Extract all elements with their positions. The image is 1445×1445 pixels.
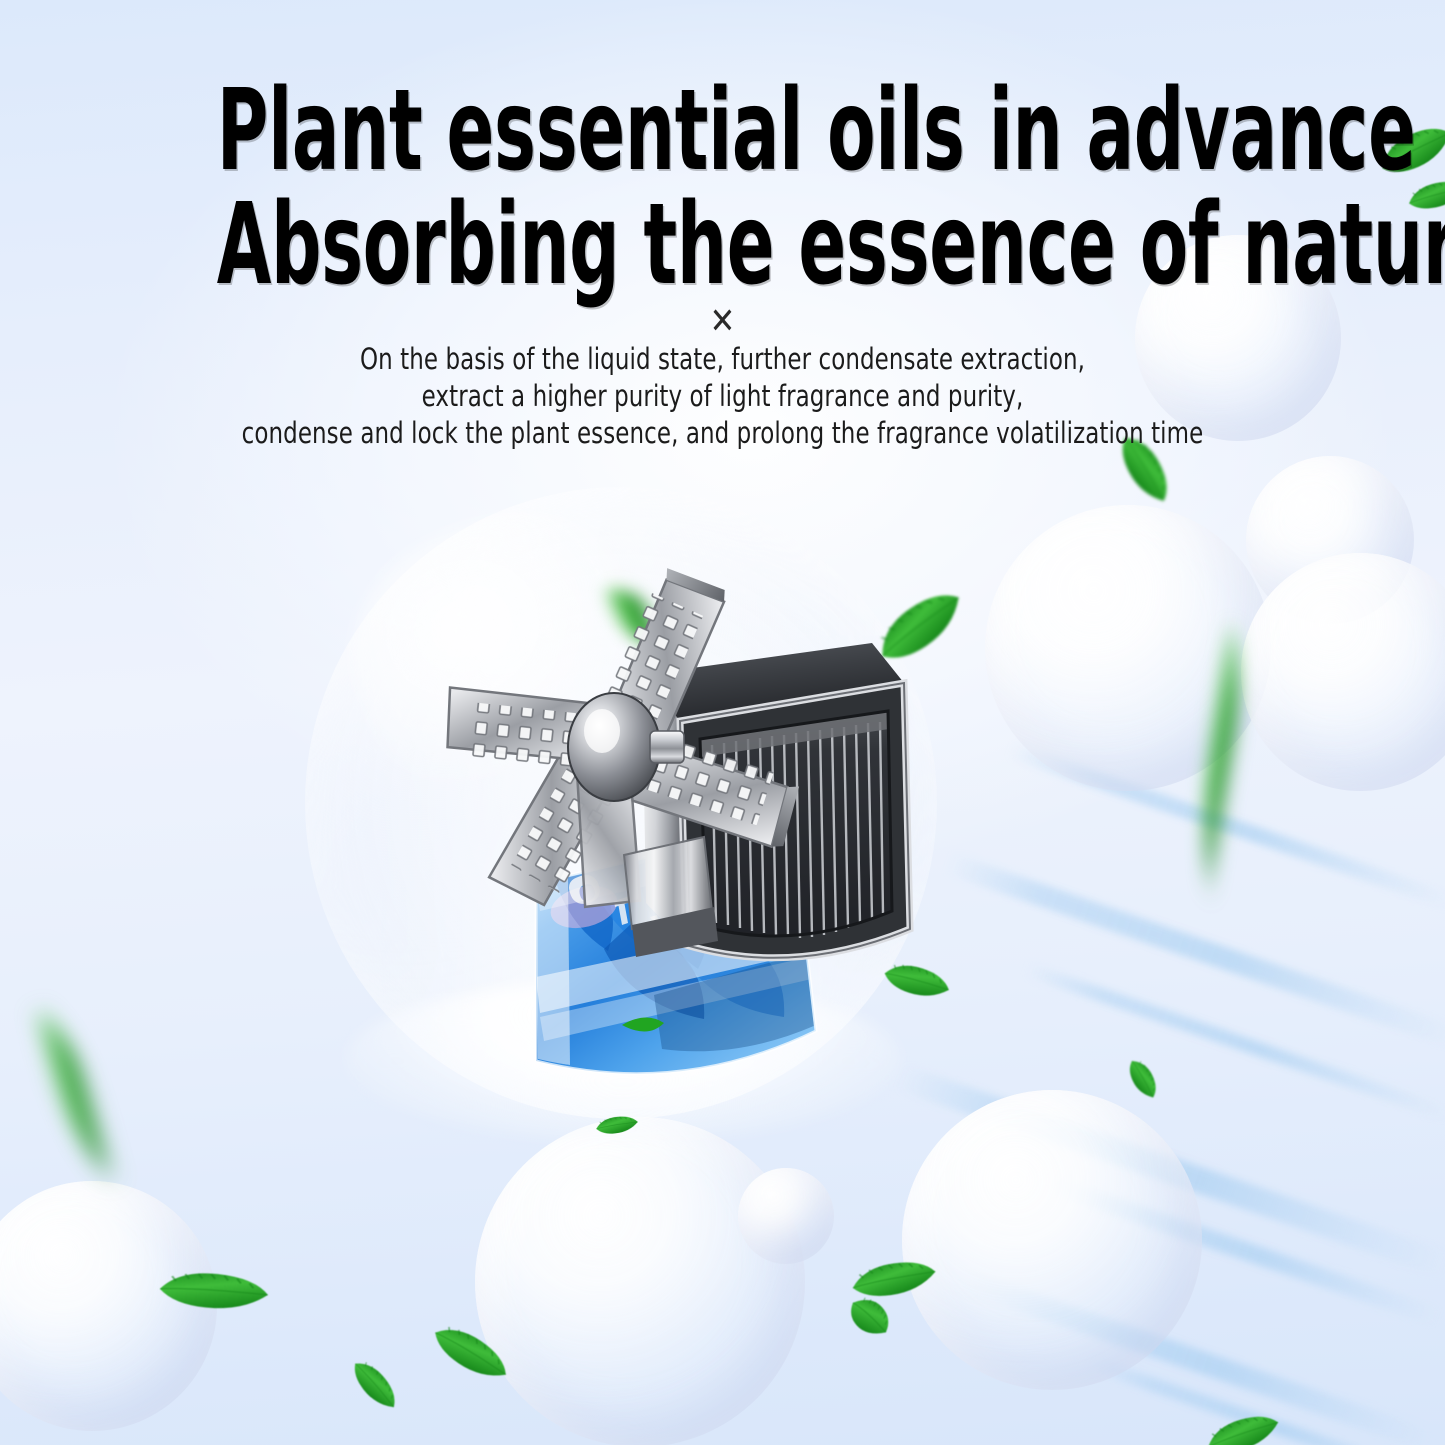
leaf-bottom-center-b-icon <box>843 1289 898 1344</box>
leaf-right-low-icon <box>1124 1055 1162 1102</box>
headline-line-1: Plant essential oils in advance <box>217 74 1229 188</box>
description-line-2: extract a higher purity of light fragran… <box>87 378 1359 415</box>
product-marketing-poster: Plant essential oils in advance Absorbin… <box>0 0 1445 1445</box>
page-title: Plant essential oils in advance Absorbin… <box>217 74 1229 302</box>
description-line-3: condense and lock the plant essence, and… <box>87 415 1359 452</box>
leaf-bottom-mid-b-icon <box>347 1354 403 1416</box>
description-paragraph: On the basis of the liquid state, furthe… <box>87 341 1359 452</box>
headline-line-2: Absorbing the essence of nature <box>217 188 1229 302</box>
description-line-1: On the basis of the liquid state, furthe… <box>87 341 1359 378</box>
solar-windmill-air-freshener-product <box>418 525 938 1205</box>
leaf-bottom-right-icon <box>1203 1408 1283 1445</box>
cross-separator-icon: ✕ <box>108 303 1336 339</box>
bubble-bottom-right-rim <box>902 1090 1202 1390</box>
chrome-shaft <box>624 837 718 957</box>
leaf-left-blur-icon <box>0 985 168 1215</box>
